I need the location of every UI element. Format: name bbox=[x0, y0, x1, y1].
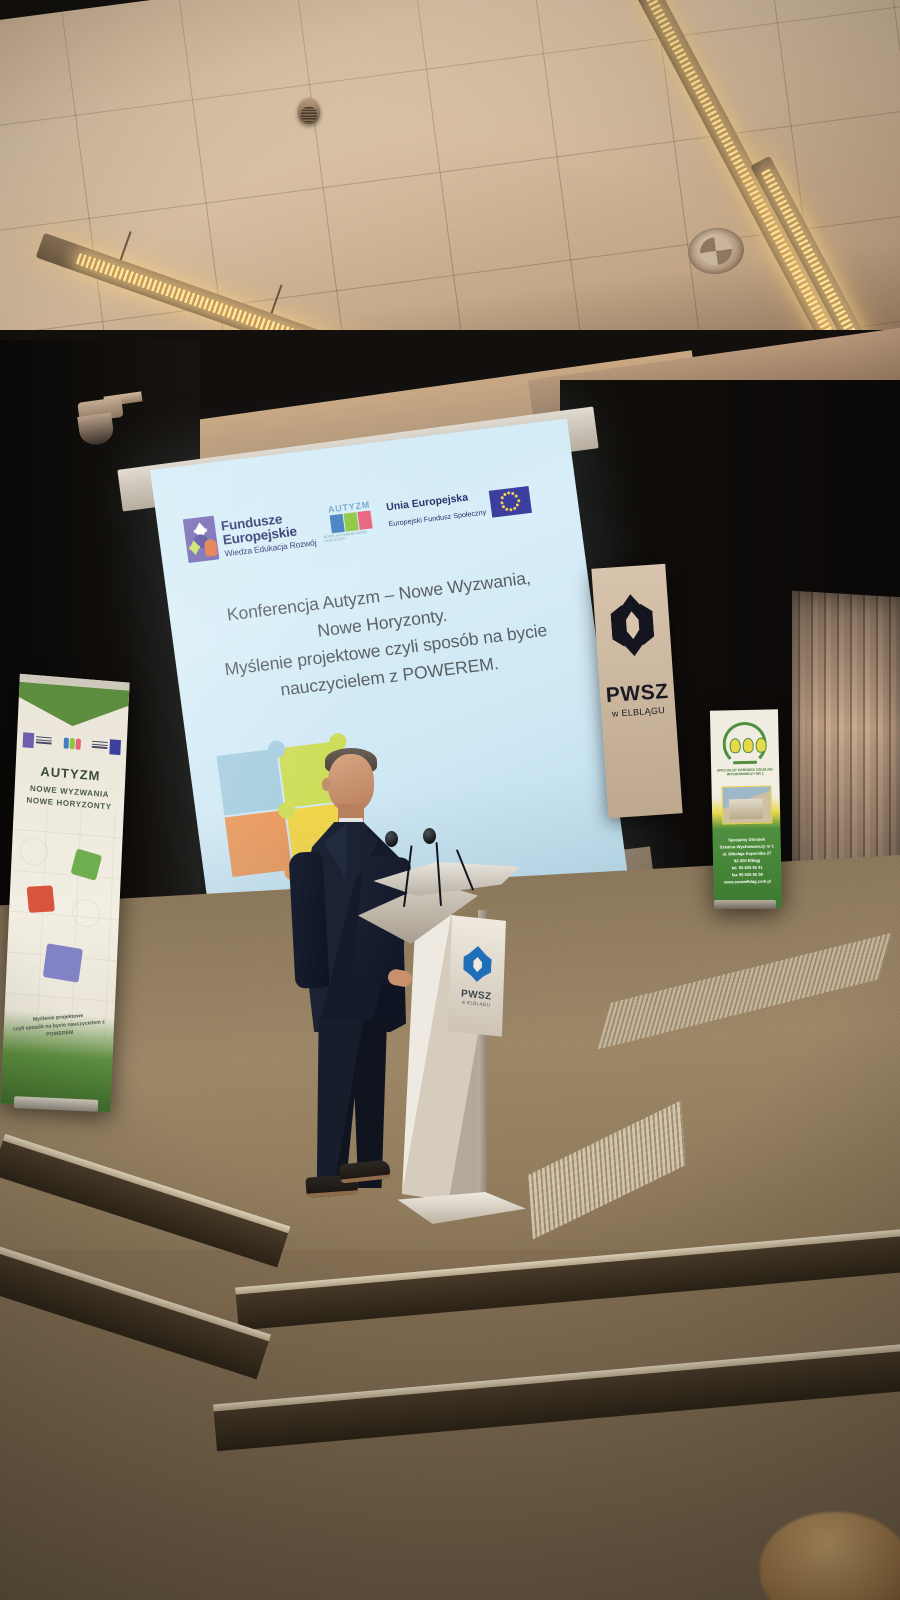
speaker-ear bbox=[322, 778, 331, 791]
banner-right-contact: Specjalny Ośrodek Szkolno-Wychowawczy nr… bbox=[716, 835, 779, 885]
lectern-banner: PWSZ w ELBLĄGU bbox=[448, 915, 506, 1037]
sosw-crest-icon bbox=[722, 722, 767, 767]
speaker-arm-left bbox=[288, 851, 329, 989]
lectern-pwsz-logo-icon bbox=[463, 945, 492, 984]
lectern-base bbox=[380, 1192, 526, 1224]
microphone-head-left bbox=[385, 831, 398, 847]
pwsz-logo-icon bbox=[608, 593, 656, 658]
banner-right-crest-caption: SPECJALNY OŚRODEK SZKOLNO-WYCHOWAWCZY NR… bbox=[711, 767, 779, 776]
rollup-banner-sosw: SPECJALNY OŚRODEK SZKOLNO-WYCHOWAWCZY NR… bbox=[710, 709, 782, 908]
pwsz-sign-name: PWSZ bbox=[605, 680, 669, 708]
banner-left-title: AUTYZM bbox=[15, 762, 125, 786]
conference-room-photo: Fundusze Europejskie Wiedza Edukacja Roz… bbox=[0, 0, 900, 1600]
rollup-right-stand bbox=[714, 900, 776, 909]
banner-left-puzzle-pattern bbox=[4, 804, 124, 1043]
lectern: PWSZ w ELBLĄGU bbox=[358, 862, 518, 1242]
microphone-head-right bbox=[423, 828, 436, 844]
rollup-banner-autyzm: AUTYZM NOWE WYZWANIA NOWE HORYZONTY Myśl… bbox=[0, 674, 129, 1112]
banner-right-line-7: www.soswelblag.com.pl bbox=[716, 877, 778, 885]
lectern-desktop bbox=[364, 862, 520, 896]
dome-camera-icon bbox=[71, 397, 128, 446]
banner-right-building-photo bbox=[722, 785, 773, 824]
banner-left-puzzle-red bbox=[27, 885, 55, 913]
banner-left-logos bbox=[22, 726, 121, 760]
banner-left-puzzle-violet bbox=[43, 943, 83, 983]
smoke-detector-icon bbox=[298, 98, 320, 124]
